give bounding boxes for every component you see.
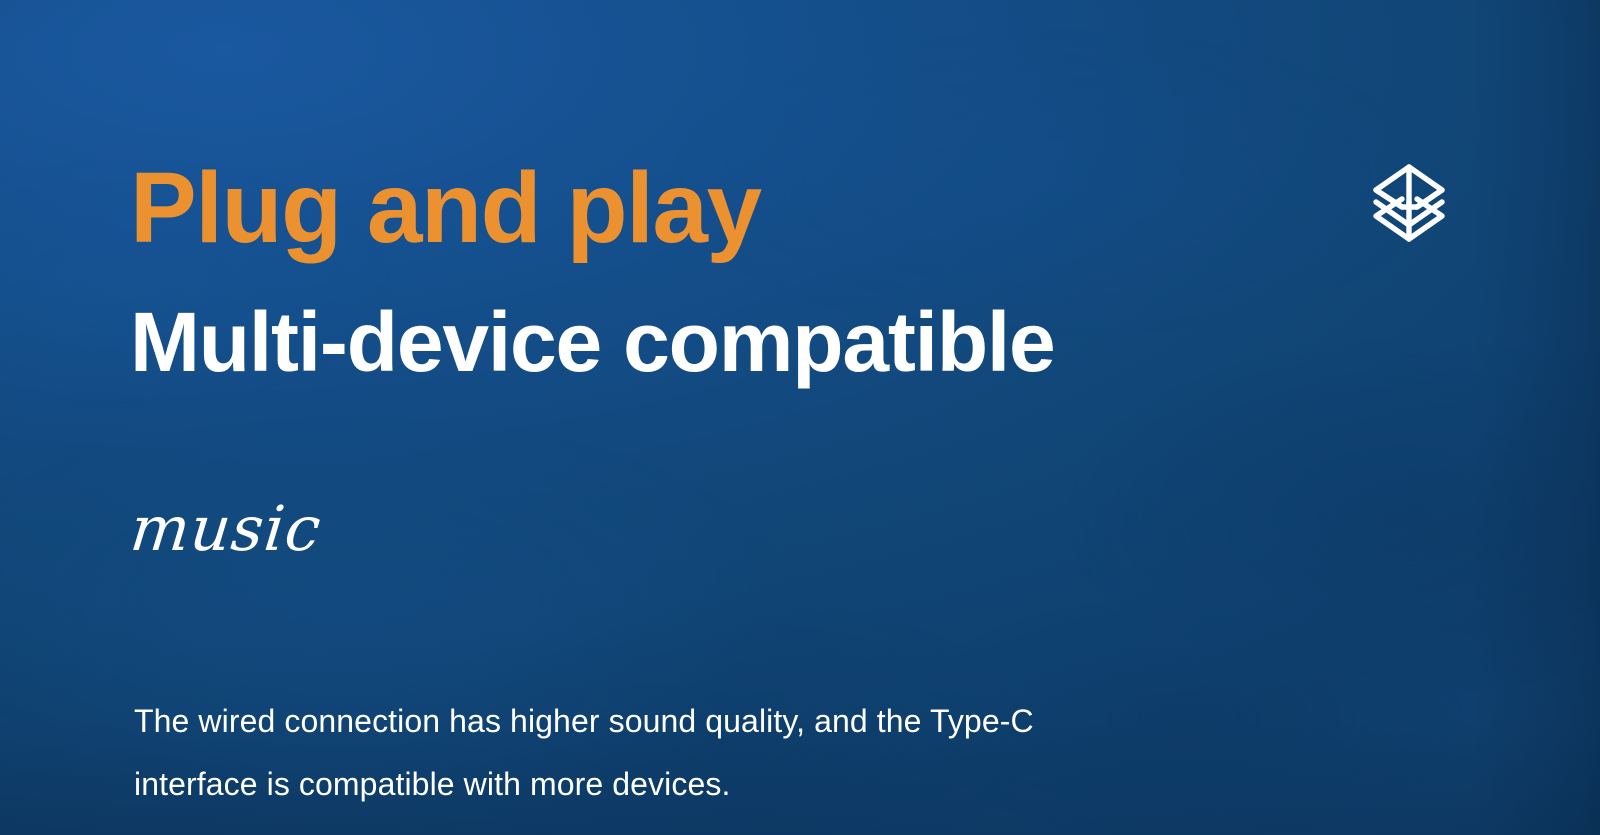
promo-banner: Plug and play Multi-device compatible mu…	[0, 0, 1600, 835]
stacked-layers-icon	[1372, 160, 1446, 246]
banner-content: Plug and play Multi-device compatible mu…	[0, 0, 1600, 835]
brand-logo	[1372, 160, 1446, 246]
body-description-line-2: interface is compatible with more device…	[134, 753, 1314, 816]
script-wordmark-music: music	[128, 498, 325, 560]
body-description-line-1: The wired connection has higher sound qu…	[134, 690, 1314, 753]
headline-primary: Plug and play	[130, 158, 761, 258]
body-description: The wired connection has higher sound qu…	[134, 690, 1314, 816]
headline-secondary: Multi-device compatible	[130, 300, 1055, 384]
